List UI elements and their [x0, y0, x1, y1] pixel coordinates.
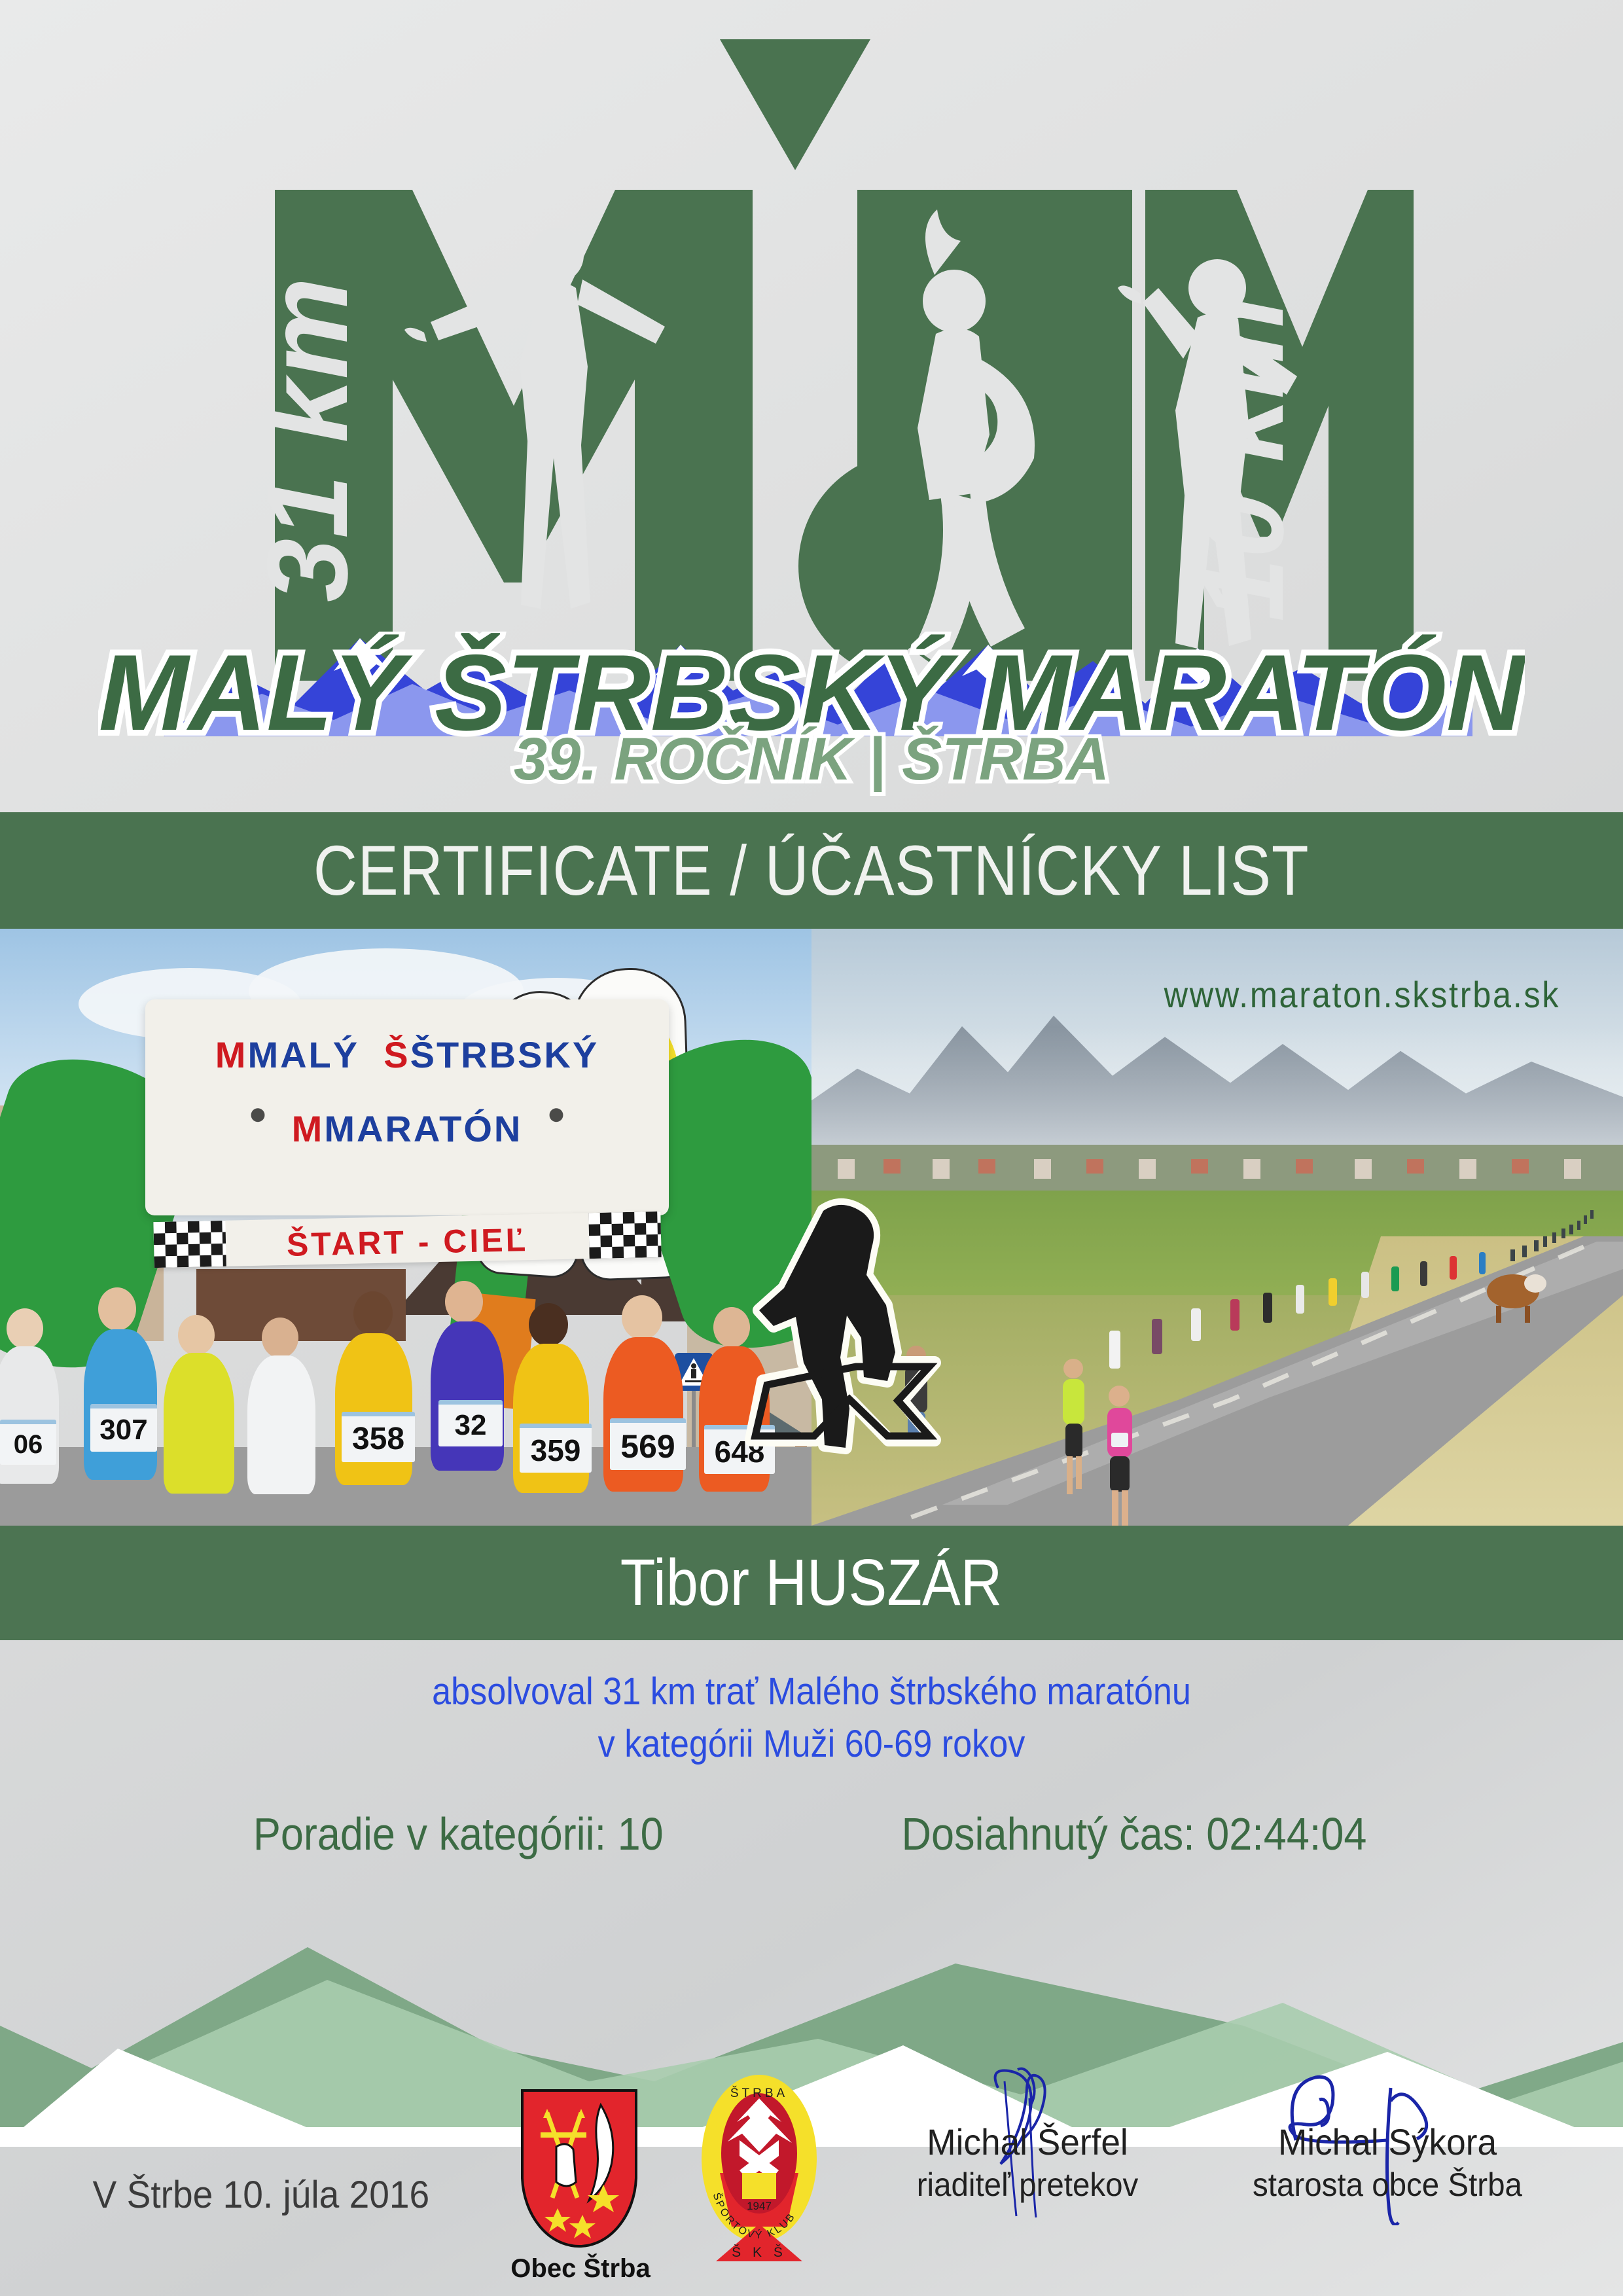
certificate-heading-text: CERTIFICATE / ÚČASTNÍCKY LIST [313, 835, 1310, 906]
arch-banner: MMALÝ ŠŠTRBSKÝ MMARATÓN [145, 999, 669, 1215]
certificate-footer: V Štrbe 10. júla 2016 Obec Štrba [0, 2062, 1623, 2296]
arch-m-letter: M [215, 1034, 248, 1075]
signature-name-mayor: Michal Sýkora [1213, 2121, 1561, 2163]
runner-head [529, 1303, 568, 1346]
runner-body [431, 1321, 504, 1471]
runner-crowd: 06 307 358 32 359 569 [0, 1269, 811, 1526]
caron-accent [720, 39, 870, 170]
website-url[interactable]: www.maraton.skstrba.sk [1164, 973, 1561, 1016]
runner-head [262, 1318, 298, 1358]
participant-name: Tibor HUSZÁR [620, 1545, 1002, 1621]
certificate-page: 31 km 10 km [0, 0, 1623, 2296]
runner-bib: 569 [610, 1418, 686, 1470]
runner-bib: 358 [342, 1412, 415, 1462]
obec-strba-caption: Obec Štrba [505, 2254, 656, 2284]
signature-role-mayor: starosta obce Štrba [1213, 2166, 1561, 2204]
msm-runner-mark-icon [542, 1104, 571, 1154]
issue-date: V Štrbe 10. júla 2016 [93, 2173, 430, 2217]
signature-role-director: riaditeľ pretekov [853, 2166, 1202, 2204]
runner-bib: 359 [520, 1424, 592, 1473]
runner-head [98, 1287, 136, 1331]
photo-start-line: TATRY V POHYBE ŠTRBA 1947 [0, 929, 811, 1526]
msm-runner-mark-icon [243, 1104, 272, 1154]
runner-body [247, 1355, 315, 1494]
runner-head [622, 1295, 662, 1340]
arch-s-letter: Š [383, 1034, 410, 1075]
runner-bib: 32 [438, 1400, 503, 1446]
arch-m2-letter: M [292, 1108, 325, 1149]
finish-time: Dosiahnutý čas: 02:44:04 [902, 1808, 1367, 1860]
signature-block-mayor: Michal Sýkora starosta obce Štrba [1204, 2121, 1571, 2204]
runner-body [335, 1333, 412, 1485]
arch-banner-word2: ŠTRBSKÝ [410, 1034, 599, 1075]
event-logo-block: 31 km 10 km [0, 0, 1623, 812]
logo-subtitle-text: 39. ROČNÍK | ŠTRBA [514, 725, 1109, 793]
runner-head [353, 1291, 393, 1336]
runner-head [178, 1315, 215, 1355]
sks-strba-club-logo: ŠTRBA 1947 Š K Š ŠPORTOVÝ KLUB [694, 2075, 825, 2261]
runner-head [445, 1281, 483, 1323]
distance-31km-label: 31 km [244, 278, 372, 602]
distance-31km-text: 31 km [244, 278, 372, 602]
runner-bib: 307 [90, 1404, 157, 1452]
participant-name-bar: Tibor HUSZÁR [0, 1526, 1623, 1640]
arch-banner-line2: MMARATÓN [145, 1107, 669, 1150]
arch-banner-word1: MALÝ [247, 1034, 359, 1075]
results-row: Poradie v kategórii: 10 Dosiahnutý čas: … [0, 1808, 1623, 1860]
statement-line-2: v kategórii Muži 60-69 rokov [81, 1720, 1542, 1768]
sks-logo-bottom-text: Š K Š [732, 2245, 787, 2260]
runner-head [7, 1308, 43, 1349]
statement-line-1: absolvoval 31 km trať Malého štrbského m… [81, 1668, 1542, 1715]
signature-block-director: Michal Šerfel riaditeľ pretekov [844, 2121, 1211, 2204]
runner-bib: 06 [0, 1420, 56, 1465]
arch-banner-line1: MMALÝ ŠŠTRBSKÝ [145, 1033, 669, 1076]
certificate-heading-bar: CERTIFICATE / ÚČASTNÍCKY LIST [0, 812, 1623, 929]
signature-name-director: Michal Šerfel [853, 2121, 1202, 2163]
obec-strba-coat-of-arms [517, 2087, 641, 2250]
category-rank: Poradie v kategórii: 10 [253, 1808, 664, 1860]
msm-runner-cutout: MŠM [738, 1191, 954, 1496]
arch-banner-word3: MARATÓN [324, 1108, 522, 1149]
logo-subtitle-svg: 39. ROČNÍK | ŠTRBA [419, 717, 1204, 802]
sks-logo-year: 1947 [747, 2200, 772, 2212]
sks-logo-top-text: ŠTRBA [730, 2086, 788, 2100]
runner-body [164, 1353, 234, 1494]
